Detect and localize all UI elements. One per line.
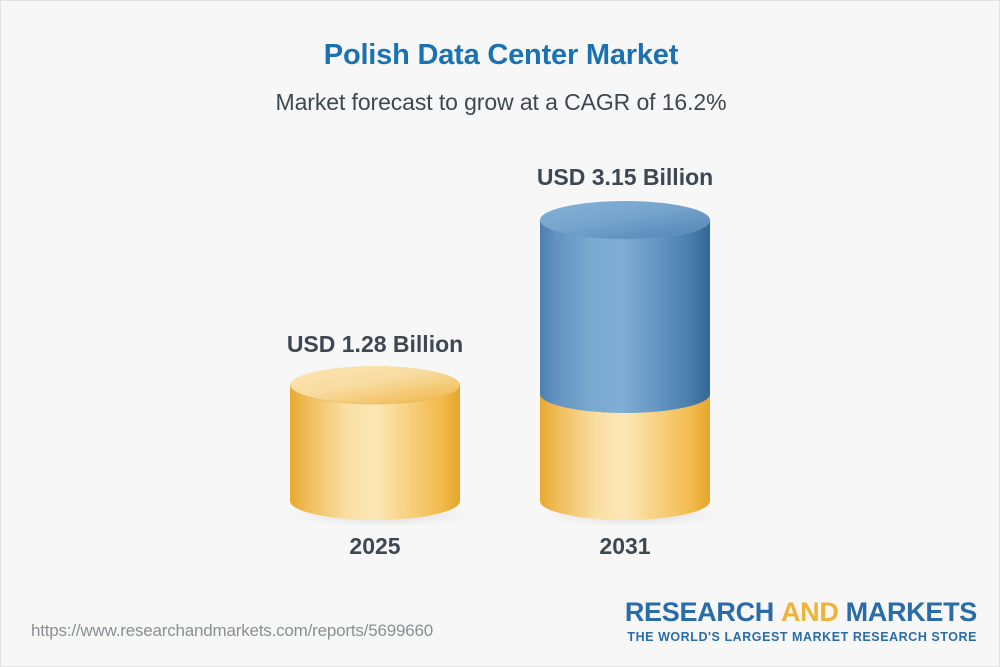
cylinder-segment-forecast (540, 220, 710, 413)
category-label-2031: 2031 (535, 533, 715, 560)
logo-word-markets: MARKETS (846, 597, 977, 627)
category-label-2025: 2025 (285, 533, 465, 560)
plot-area: USD 1.28 Billion (1, 1, 1000, 601)
cylinder-2025[interactable] (283, 363, 473, 528)
cylinder-body-base (290, 385, 460, 520)
logo-word-and: AND (781, 597, 839, 627)
logo-wordmark: RESEARCHANDMARKETS (625, 599, 977, 626)
cylinder-2031[interactable] (533, 198, 723, 528)
chart-canvas: Polish Data Center Market Market forecas… (0, 0, 1000, 667)
logo-word-research: RESEARCH (625, 597, 774, 627)
brand-logo[interactable]: RESEARCHANDMARKETS THE WORLD'S LARGEST M… (625, 599, 977, 644)
value-label-2025: USD 1.28 Billion (275, 331, 475, 358)
value-label-2031: USD 3.15 Billion (525, 164, 725, 191)
source-url[interactable]: https://www.researchandmarkets.com/repor… (31, 621, 433, 641)
logo-tagline: THE WORLD'S LARGEST MARKET RESEARCH STOR… (625, 631, 977, 644)
